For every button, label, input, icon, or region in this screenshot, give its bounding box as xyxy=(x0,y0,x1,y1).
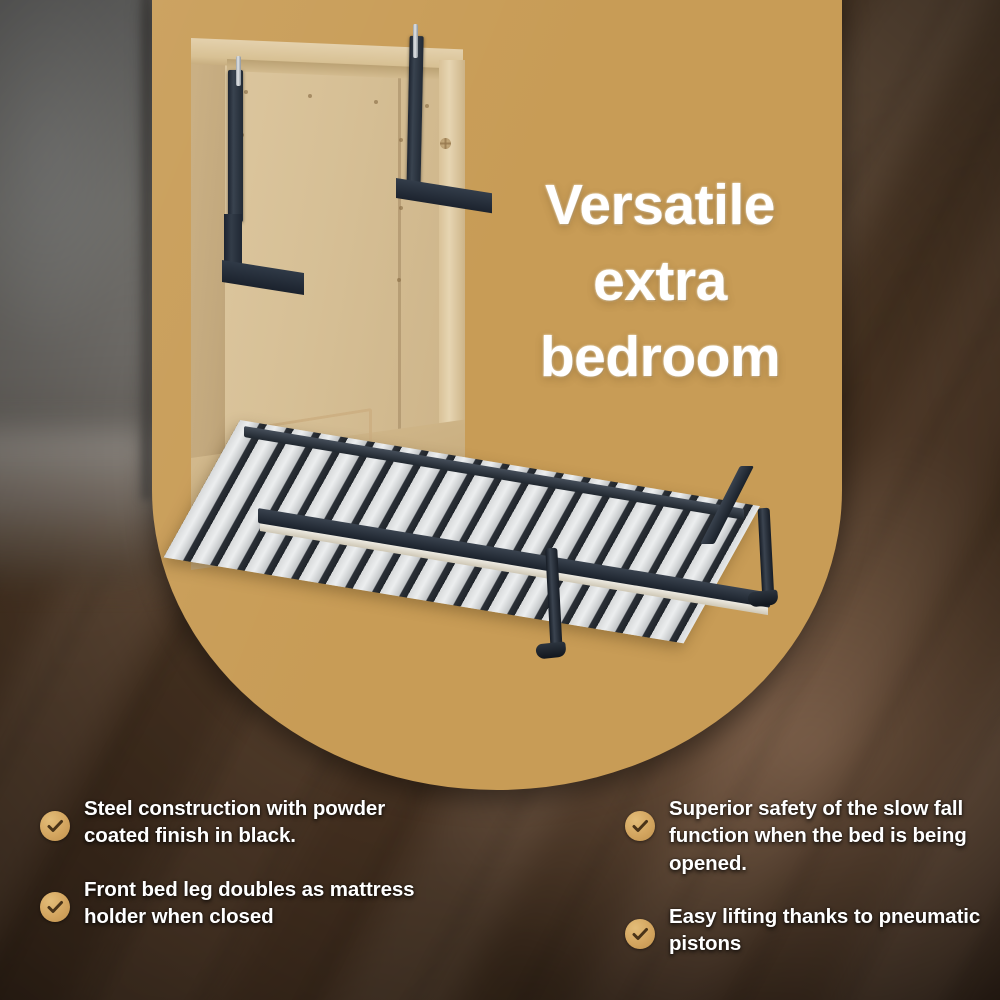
feature-text: Front bed leg doubles as mattress holder… xyxy=(84,876,440,931)
cabinet-screw xyxy=(244,90,248,94)
check-icon xyxy=(625,919,655,949)
feature-text: Easy lifting thanks to pneumatic pistons xyxy=(669,903,1000,958)
feature-column-left: Steel construction with powder coated fi… xyxy=(40,795,440,956)
hinge-arm-left xyxy=(228,70,243,222)
check-icon xyxy=(40,811,70,841)
check-icon xyxy=(40,892,70,922)
headline-line-1: Versatile xyxy=(470,168,850,244)
bed-leg-back xyxy=(758,508,775,601)
cabinet-screw xyxy=(397,278,401,282)
feature-item: Steel construction with powder coated fi… xyxy=(40,795,440,850)
feature-list: Steel construction with powder coated fi… xyxy=(0,795,1000,1000)
cabinet-cam-screw xyxy=(440,138,451,149)
bed-slats xyxy=(164,420,760,643)
pneumatic-piston-right xyxy=(413,24,418,58)
feature-column-right: Superior safety of the slow fall functio… xyxy=(625,795,1000,983)
headline-line-2: extra xyxy=(470,244,850,320)
cabinet-screw xyxy=(374,100,378,104)
promo-image: Versatile extra bedroom Steel constructi… xyxy=(0,0,1000,1000)
feature-text: Steel construction with powder coated fi… xyxy=(84,795,440,850)
feature-item: Easy lifting thanks to pneumatic pistons xyxy=(625,903,1000,958)
headline: Versatile extra bedroom xyxy=(470,168,850,395)
feature-text: Superior safety of the slow fall functio… xyxy=(669,795,1000,877)
feature-item: Superior safety of the slow fall functio… xyxy=(625,795,1000,877)
cabinet-screw xyxy=(399,138,403,142)
bed-platform xyxy=(240,420,760,570)
check-icon xyxy=(625,811,655,841)
feature-item: Front bed leg doubles as mattress holder… xyxy=(40,876,440,931)
bed-foot-back xyxy=(747,589,778,607)
pneumatic-piston-left xyxy=(236,56,241,86)
cabinet-screw xyxy=(308,94,312,98)
cabinet-screw xyxy=(399,206,403,210)
cabinet-screw xyxy=(425,104,429,108)
headline-line-3: bedroom xyxy=(470,320,850,396)
